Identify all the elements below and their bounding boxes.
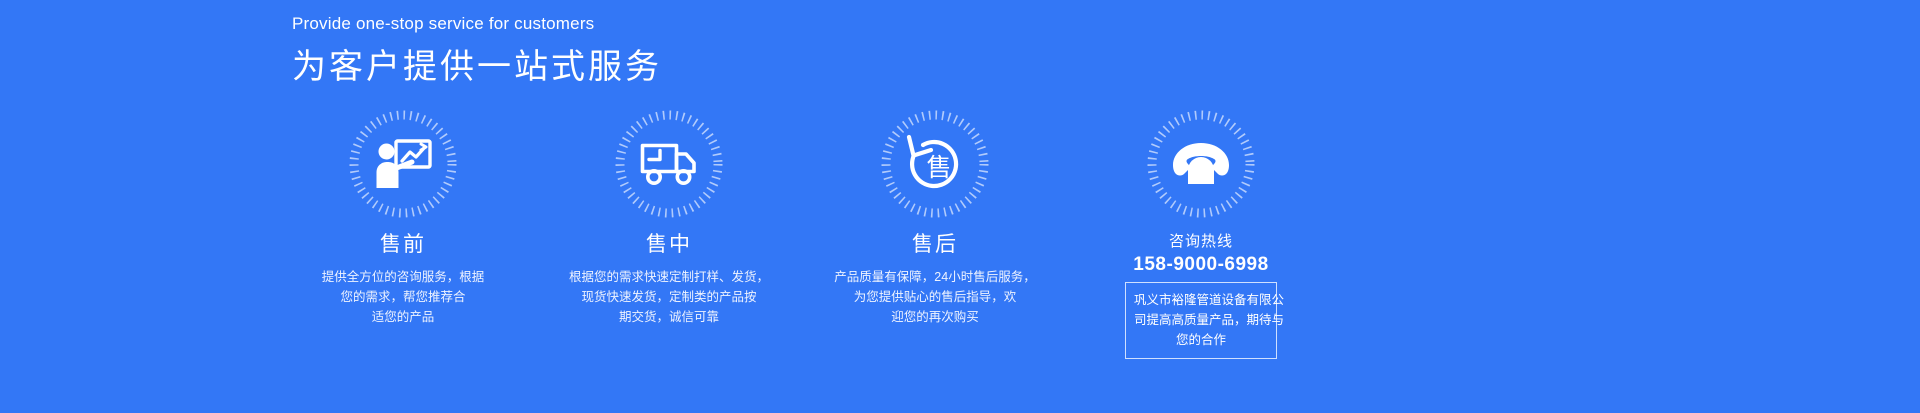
heading-block: Provide one-stop service for customers 为… (292, 14, 662, 88)
icon-ring-insale (615, 110, 723, 218)
hotline-number: 158-9000-6998 (1068, 254, 1334, 276)
svg-text:售: 售 (926, 154, 951, 182)
desc-line: 提供全方位的咨询服务，根据 (270, 267, 536, 287)
desc-line: 根据您的需求快速定制打样、发货， (536, 267, 802, 287)
company-note-box: 巩义市裕隆管道设备有限公 司提高高质量产品，期待与 您的合作 (1125, 282, 1277, 359)
icon-ring-presale (349, 110, 457, 218)
desc-line: 您的需求，帮您推荐合 (270, 287, 536, 307)
desc-line: 为您提供贴心的售后指导，欢 (802, 287, 1068, 307)
page-title: 为客户提供一站式服务 (292, 47, 662, 88)
desc-line: 适您的产品 (270, 307, 536, 327)
service-column-insale: 售中 根据您的需求快速定制打样、发货， 现货快速发货，定制类的产品按 期交货，诚… (536, 110, 802, 359)
telephone-icon (1170, 140, 1232, 188)
after-sales-arrow-icon: 售 (902, 133, 968, 195)
company-note-line: 司提高高质量产品，期待与 (1134, 310, 1268, 330)
service-column-presale: 售前 提供全方位的咨询服务，根据 您的需求，帮您推荐合 适您的产品 (270, 110, 536, 359)
presenter-board-icon (374, 138, 432, 190)
service-description: 根据您的需求快速定制打样、发货， 现货快速发货，定制类的产品按 期交货，诚信可靠 (536, 267, 802, 327)
promo-banner: Provide one-stop service for customers 为… (0, 0, 1920, 413)
icon-ring-hotline (1147, 110, 1255, 218)
company-note-line: 您的合作 (1134, 330, 1268, 350)
service-title: 售中 (536, 232, 802, 257)
service-title: 售后 (802, 232, 1068, 257)
service-description: 提供全方位的咨询服务，根据 您的需求，帮您推荐合 适您的产品 (270, 267, 536, 327)
service-description: 产品质量有保障，24小时售后服务， 为您提供贴心的售后指导，欢 迎您的再次购买 (802, 267, 1068, 327)
desc-line: 产品质量有保障，24小时售后服务， (802, 267, 1068, 287)
desc-line: 期交货，诚信可靠 (536, 307, 802, 327)
service-column-aftersale: 售 售后 产品质量有保障，24小时售后服务， 为您提供贴心的售后指导，欢 迎您的… (802, 110, 1068, 359)
eyebrow-text: Provide one-stop service for customers (292, 14, 662, 34)
service-column-hotline: 咨询热线 158-9000-6998 巩义市裕隆管道设备有限公 司提高高质量产品… (1068, 110, 1334, 359)
hotline-title: 咨询热线 (1068, 230, 1334, 251)
desc-line: 迎您的再次购买 (802, 307, 1068, 327)
service-title: 售前 (270, 232, 536, 257)
desc-line: 现货快速发货，定制类的产品按 (536, 287, 802, 307)
icon-ring-aftersale: 售 (881, 110, 989, 218)
delivery-truck-icon (639, 141, 699, 187)
service-columns: 售前 提供全方位的咨询服务，根据 您的需求，帮您推荐合 适您的产品 (270, 110, 1520, 359)
company-note-line: 巩义市裕隆管道设备有限公 (1134, 290, 1268, 310)
